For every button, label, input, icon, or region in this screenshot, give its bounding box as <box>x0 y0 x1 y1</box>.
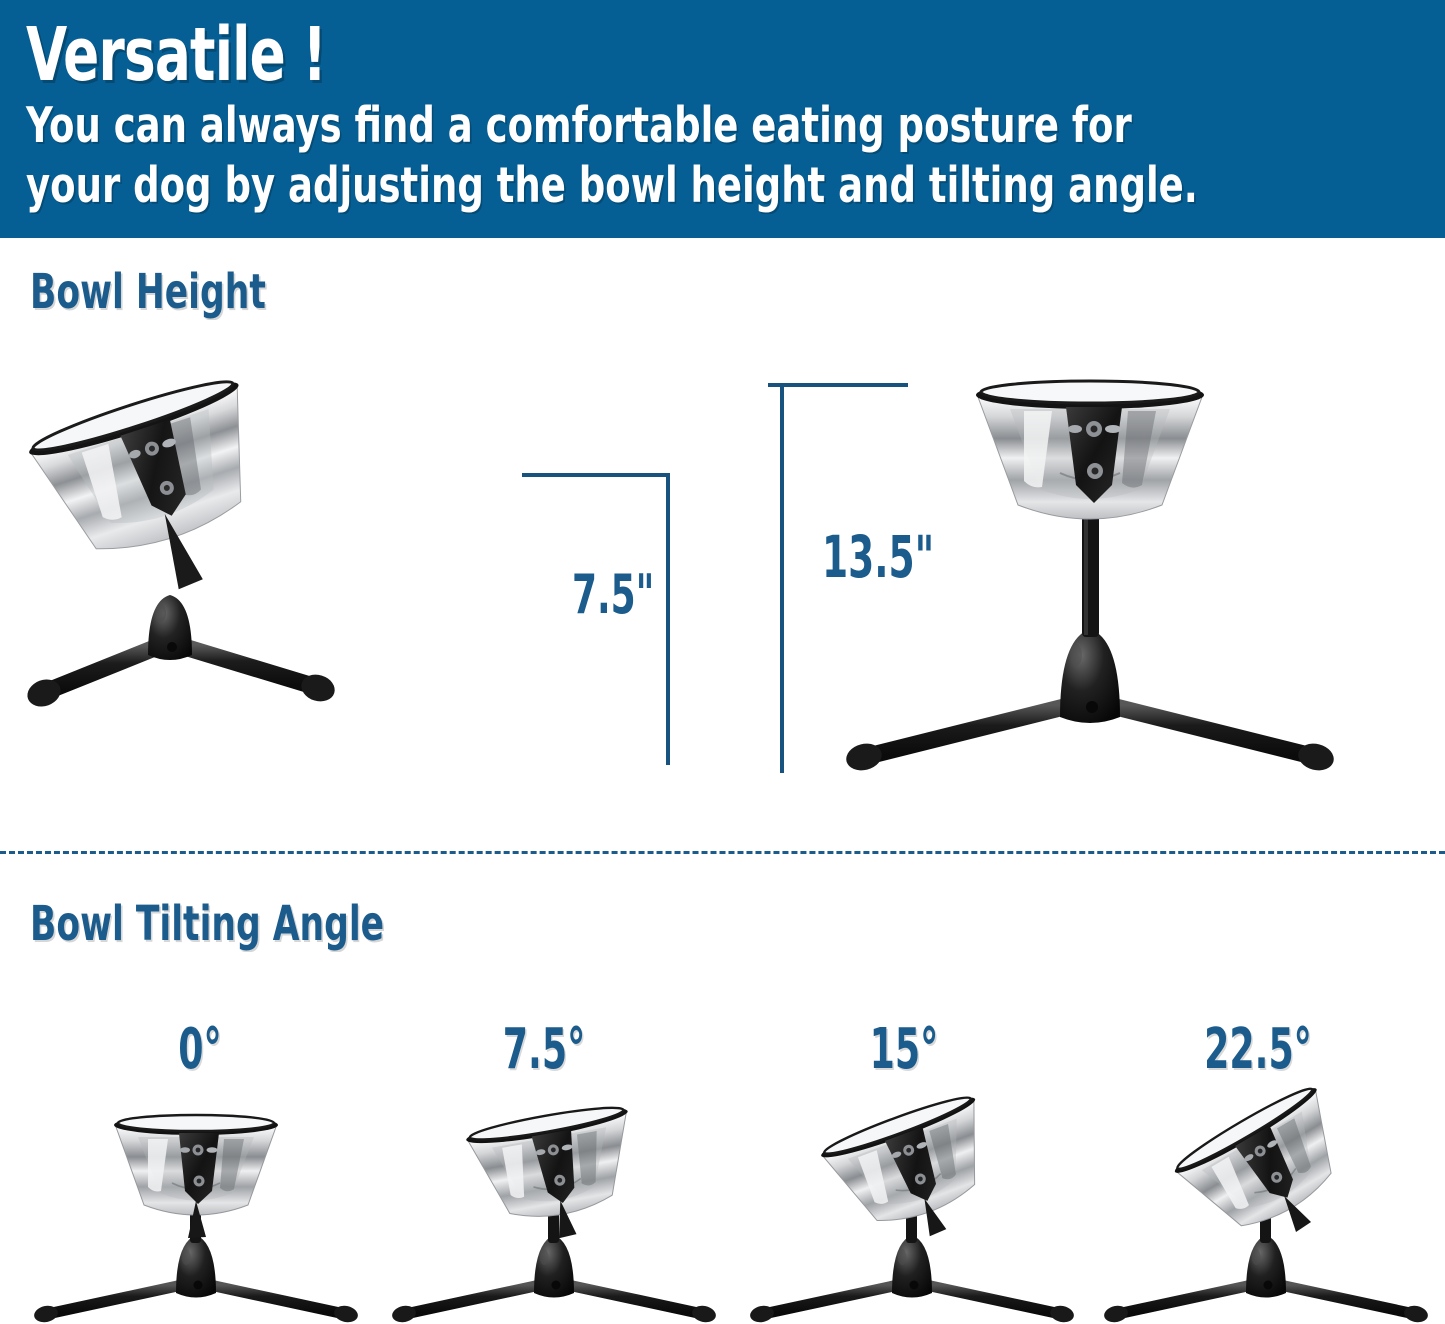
stand-hub <box>176 1235 216 1298</box>
stand-hub <box>148 595 192 660</box>
angle-figure-0 <box>20 1105 380 1324</box>
stand-hub <box>892 1235 932 1298</box>
angle-figure-7-5 <box>378 1105 738 1324</box>
header-banner: Versatile ! You can always find a comfor… <box>0 0 1445 238</box>
angle-label-7-5: 7.5° <box>458 1022 631 1078</box>
bowl-assembly <box>976 381 1204 519</box>
bowl-stand-illustration <box>1090 1105 1445 1324</box>
angle-label-15: 15° <box>818 1022 991 1078</box>
banner-subtitle-line-1: You can always find a comfortable eating… <box>26 96 1196 156</box>
section-divider <box>0 851 1445 854</box>
bowl-assembly <box>25 371 293 620</box>
figure-bowl-height-low: 7.5" <box>10 355 710 785</box>
stand-hub <box>534 1235 574 1298</box>
bowl-stand-illustration <box>378 1105 738 1324</box>
section-heading-bowl-tilting-angle: Bowl Tilting Angle <box>30 900 384 948</box>
figure-bowl-height-high: 13.5" <box>760 355 1440 785</box>
bowl-assembly <box>114 1115 278 1238</box>
dimension-label-13-5: 13.5" <box>822 523 934 591</box>
stand-hub <box>1246 1235 1286 1298</box>
angle-figure-15 <box>736 1105 1096 1324</box>
section-heading-bowl-height: Bowl Height <box>30 268 266 316</box>
banner-subtitle-line-2: your dog by adjusting the bowl height an… <box>26 156 1196 216</box>
dimension-label-7-5: 7.5" <box>572 564 654 627</box>
bowl-stand-illustration <box>736 1105 1096 1324</box>
angle-figure-22-5 <box>1090 1105 1445 1324</box>
stand-hub <box>1060 629 1120 723</box>
bowl-stand-illustration <box>20 1105 380 1324</box>
angle-label-22-5: 22.5° <box>1172 1022 1345 1078</box>
banner-title: Versatile ! <box>26 14 1140 96</box>
dimension-marker-7-5: 7.5" <box>522 473 670 765</box>
dimension-marker-13-5: 13.5" <box>768 385 934 773</box>
angle-label-0: 0° <box>114 1022 287 1078</box>
